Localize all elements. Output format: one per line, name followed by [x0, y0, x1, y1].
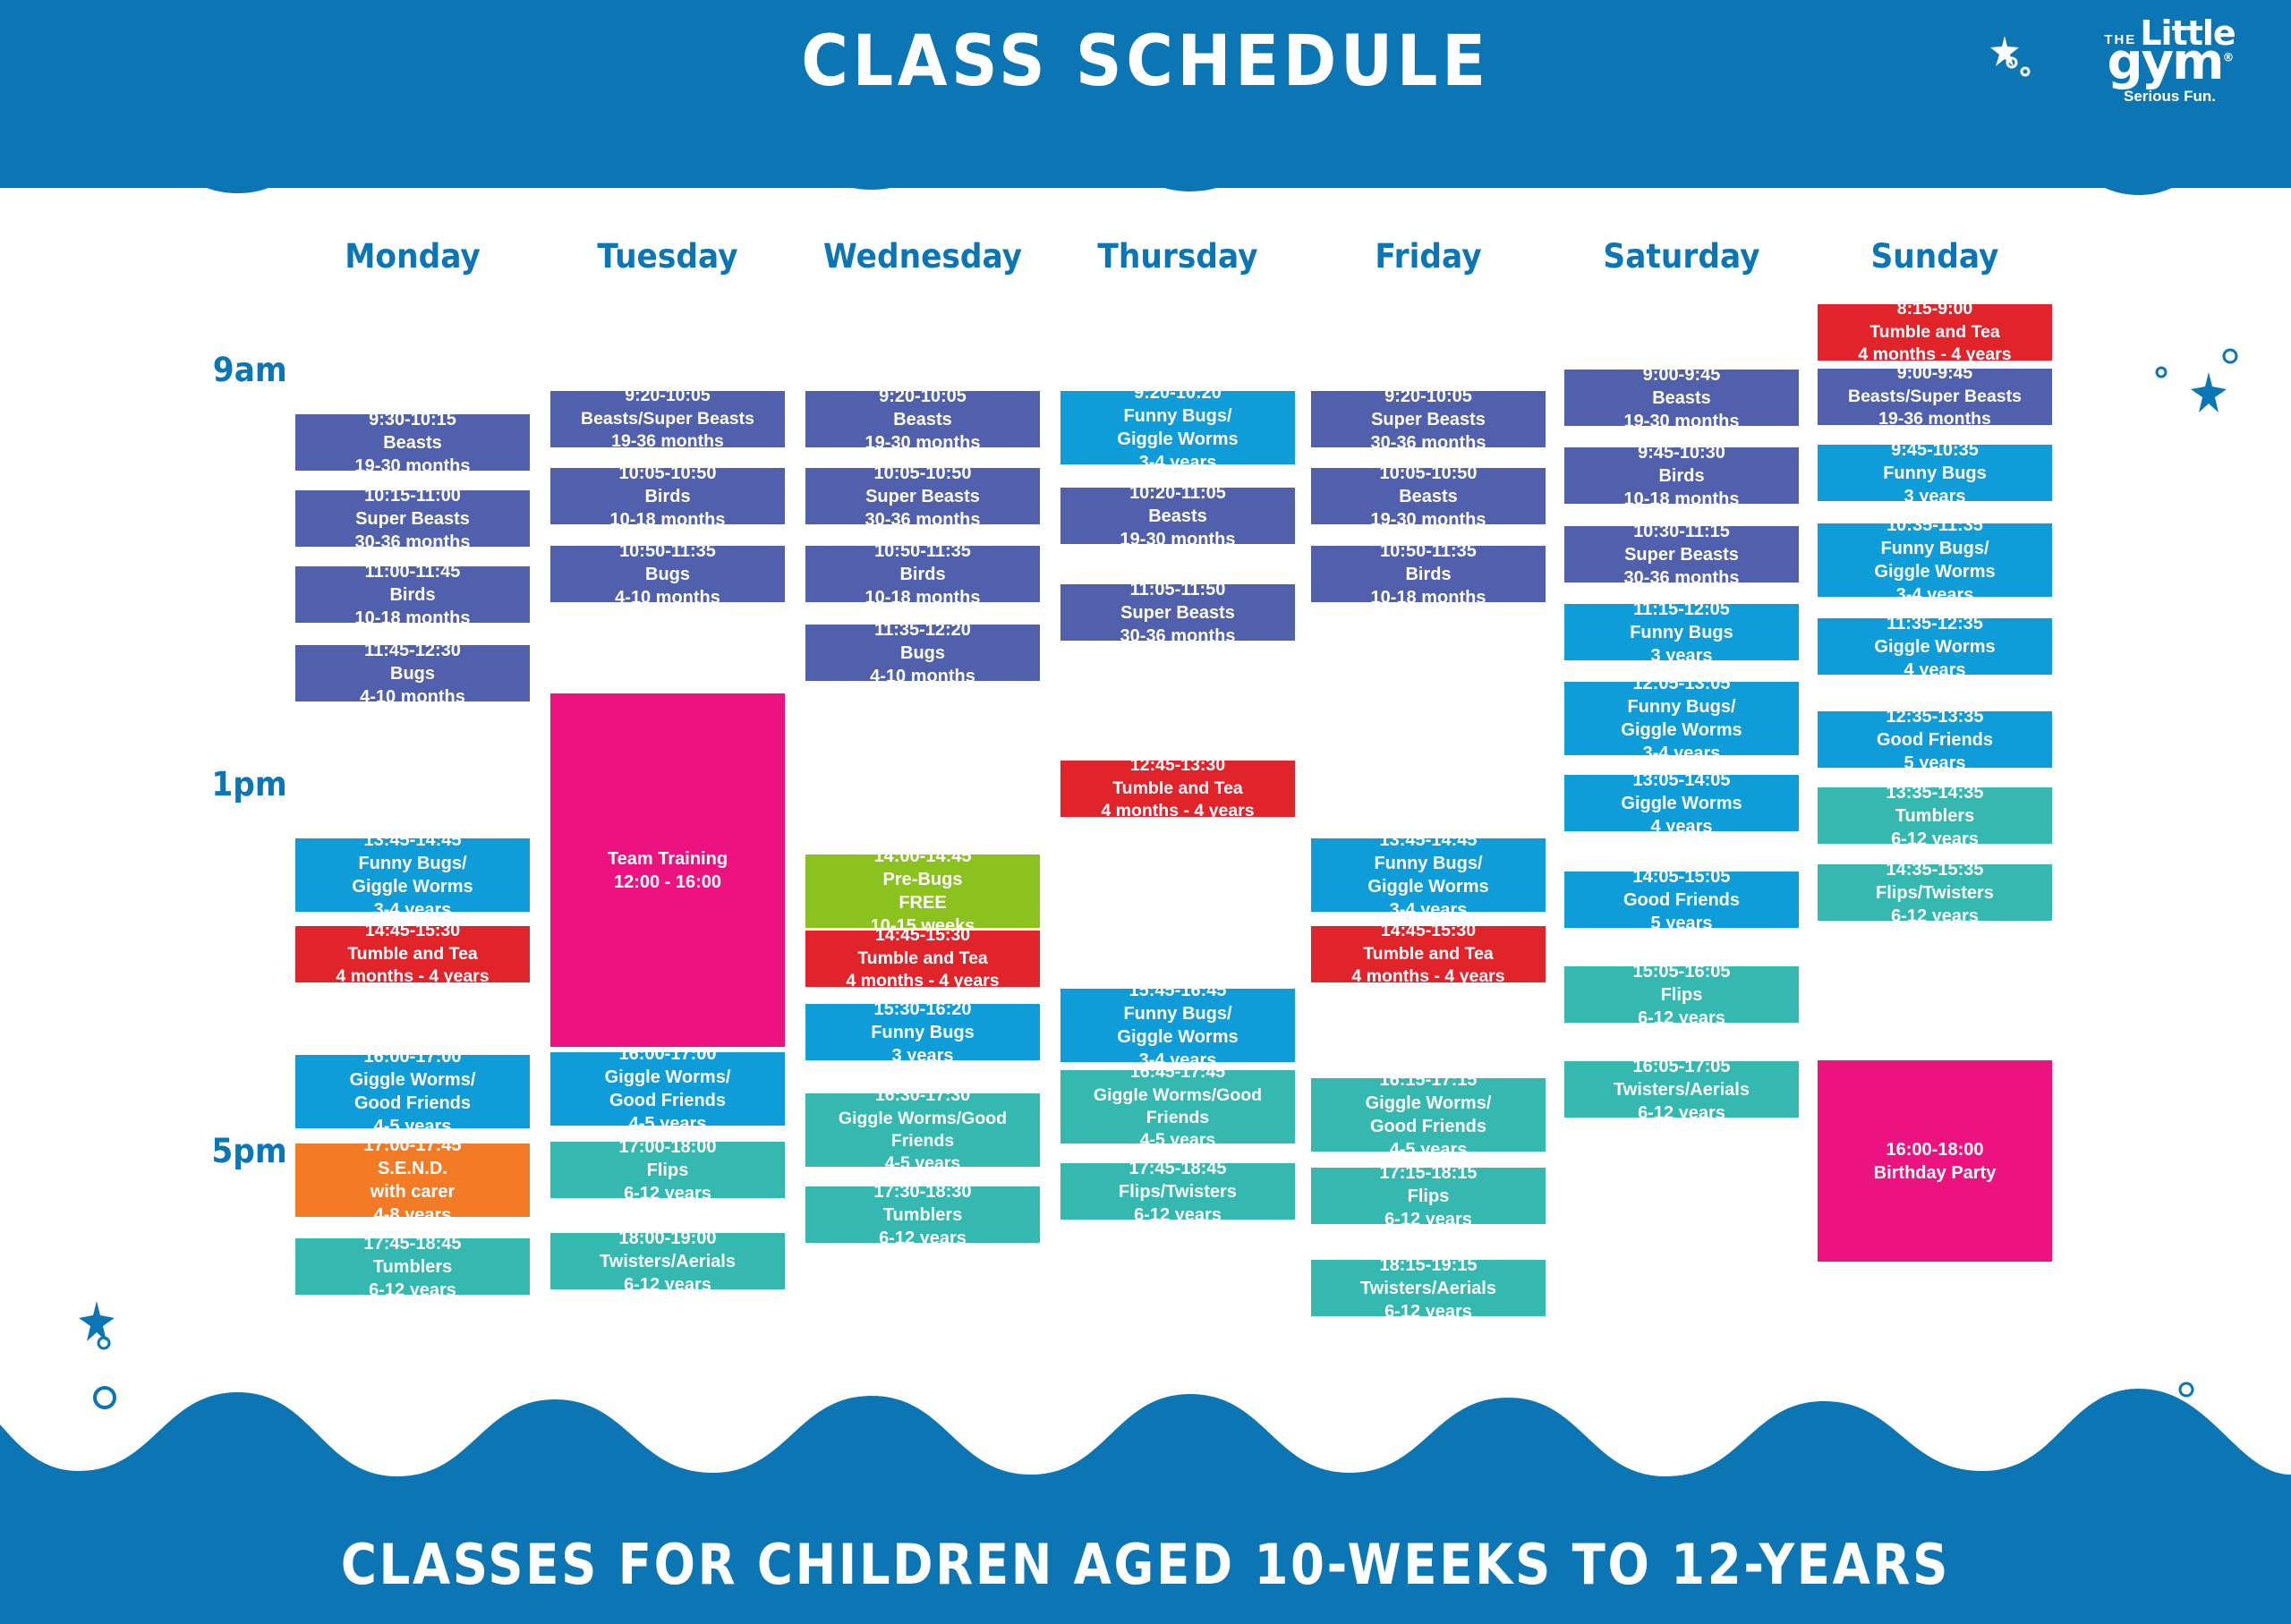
class-name: Giggle Worms — [1874, 635, 1995, 659]
class-name: Birds — [389, 583, 435, 607]
class-block[interactable]: 10:20-11:05Beasts19-30 months — [1060, 488, 1295, 544]
class-name: Beasts/Super Beasts — [581, 408, 754, 430]
class-time: 10:50-11:35 — [1380, 540, 1477, 563]
class-block[interactable]: 10:15-11:00Super Beasts30-36 months — [295, 490, 530, 547]
class-time: 16:05-17:05 — [1633, 1055, 1731, 1078]
class-block[interactable]: 14:00-14:45Pre-BugsFREE10-15 weeks — [805, 855, 1040, 928]
class-block[interactable]: 11:45-12:30Bugs4-10 months — [295, 645, 530, 701]
class-block[interactable]: 10:50-11:35Bugs4-10 months — [550, 546, 785, 602]
class-name: Flips — [647, 1159, 689, 1182]
class-block[interactable]: 14:45-15:30Tumble and Tea4 months - 4 ye… — [295, 926, 530, 982]
class-time: 10:05-10:50 — [1380, 462, 1478, 485]
class-block[interactable]: 10:50-11:35Birds10-18 months — [805, 546, 1040, 602]
class-time: 17:15-18:15 — [1380, 1161, 1478, 1185]
class-block[interactable]: 13:35-14:35Tumblers6-12 years — [1818, 787, 2052, 844]
class-age-range: 3-4 years — [1139, 451, 1217, 474]
class-name: Tumblers — [1895, 804, 1975, 828]
class-age-range: 3 years — [892, 1044, 954, 1067]
class-time: 17:45-18:45 — [364, 1232, 462, 1255]
class-time: 10:20-11:05 — [1129, 481, 1226, 505]
class-age-range: 4-10 months — [360, 685, 465, 709]
day-header-monday: Monday — [303, 237, 522, 276]
class-time: 14:05-15:05 — [1633, 865, 1731, 889]
class-age-range: 19-30 months — [1120, 528, 1236, 551]
class-name: Funny Bugs — [1630, 621, 1733, 644]
class-age-range: 4 years — [1651, 815, 1713, 838]
class-block[interactable]: 16:30-17:30Giggle Worms/GoodFriends4-5 y… — [805, 1093, 1040, 1167]
class-time: 11:45-12:30 — [364, 639, 461, 662]
class-age-range: 6-12 years — [1891, 905, 1979, 928]
class-age-range: 6-12 years — [1384, 1208, 1472, 1231]
class-name-line2: Giggle Worms — [1117, 1025, 1238, 1049]
class-block[interactable]: 16:05-17:05Twisters/Aerials6-12 years — [1564, 1061, 1799, 1118]
class-age-range: 4 months - 4 years — [1351, 965, 1504, 988]
class-name: Funny Bugs — [1883, 462, 1987, 485]
class-name: Birds — [644, 485, 690, 508]
day-header-tuesday: Tuesday — [558, 237, 777, 276]
class-block[interactable]: 12:45-13:30Tumble and Tea4 months - 4 ye… — [1060, 761, 1295, 817]
class-block[interactable]: 16:00-18:00Birthday Party — [1818, 1060, 2052, 1262]
class-block[interactable]: 12:35-13:35Good Friends5 years — [1818, 711, 2052, 768]
class-name: Beasts — [1399, 485, 1458, 508]
class-name: Bugs — [390, 662, 435, 685]
class-time: 15:30-16:20 — [874, 998, 972, 1021]
class-name-line2: Giggle Worms — [1367, 875, 1488, 898]
class-time: 18:15-19:15 — [1380, 1254, 1478, 1277]
class-name: Flips/Twisters — [1119, 1180, 1237, 1203]
class-age-range: 3-4 years — [1896, 583, 1974, 607]
class-time: 9:00-9:45 — [1897, 362, 1973, 385]
class-name: Flips — [1661, 983, 1703, 1007]
class-time: 16:45-17:45 — [1130, 1061, 1225, 1084]
class-name: Funny Bugs/ — [1374, 852, 1482, 875]
class-name: Giggle Worms/ — [350, 1068, 476, 1092]
class-age-range: 4-5 years — [629, 1112, 707, 1135]
class-block[interactable]: 10:30-11:15Super Beasts30-36 months — [1564, 526, 1799, 582]
class-name-line2: Giggle Worms — [352, 875, 473, 898]
class-name: Giggle Worms/ — [1366, 1092, 1492, 1115]
class-block[interactable]: 15:05-16:05Flips6-12 years — [1564, 966, 1799, 1023]
class-name: Tumble and Tea — [857, 948, 988, 970]
class-block[interactable]: 9:20-10:05Super Beasts30-36 months — [1311, 391, 1546, 447]
class-time: 13:35-14:35 — [1886, 781, 1984, 804]
class-time: 10:15-11:00 — [364, 484, 461, 507]
class-name-line2: Friends — [891, 1130, 954, 1152]
class-name: Bugs — [645, 563, 690, 586]
class-name: Beasts — [1652, 387, 1711, 410]
class-name: Beasts/Super Beasts — [1848, 386, 2022, 408]
class-age-range: 4-10 months — [615, 586, 720, 609]
class-age-range: 4 years — [1904, 659, 1966, 682]
class-age-range: 3 years — [1904, 485, 1966, 508]
class-age-range: 6-12 years — [369, 1279, 456, 1302]
class-time: 9:30-10:15 — [369, 408, 456, 431]
class-name: Super Beasts — [865, 485, 980, 508]
class-name: 12:00 - 16:00 — [614, 871, 721, 894]
class-block[interactable]: 16:00-17:00Giggle Worms/Good Friends4-5 … — [295, 1055, 530, 1128]
class-time: 13:45-14:45 — [364, 829, 462, 852]
class-time: 9:45-10:35 — [1891, 438, 1979, 462]
class-age-range: 30-36 months — [1120, 625, 1236, 648]
class-time: 13:45-14:45 — [1380, 829, 1478, 852]
class-block[interactable]: 10:05-10:50Super Beasts30-36 months — [805, 468, 1040, 524]
class-age-range: 10-18 months — [865, 586, 981, 609]
class-block[interactable]: 13:45-14:45Funny Bugs/Giggle Worms3-4 ye… — [295, 838, 530, 912]
class-name: Giggle Worms/Good — [1094, 1084, 1262, 1107]
class-time: 14:45-15:30 — [1381, 920, 1476, 942]
class-block[interactable]: 9:45-10:30Birds10-18 months — [1564, 447, 1799, 504]
class-name: Tumblers — [373, 1255, 453, 1279]
class-block[interactable]: Team Training12:00 - 16:00 — [550, 693, 785, 1047]
day-header-sunday: Sunday — [1826, 237, 2044, 276]
class-age-range: 6-12 years — [879, 1227, 967, 1250]
class-name: Twisters/Aerials — [1614, 1078, 1750, 1101]
class-block[interactable]: 14:45-15:30Tumble and Tea4 months - 4 ye… — [1311, 926, 1546, 982]
class-name: Birds — [1658, 464, 1704, 488]
class-name: Bugs — [900, 642, 945, 665]
class-time: 17:00-17:45 — [364, 1134, 462, 1157]
class-time: 11:05-11:50 — [1130, 578, 1226, 601]
class-name: Giggle Worms — [1621, 792, 1742, 815]
class-time: 14:00-14:45 — [874, 845, 972, 868]
class-block[interactable]: 13:45-14:45Funny Bugs/Giggle Worms3-4 ye… — [1311, 838, 1546, 912]
class-name: Birthday Party — [1874, 1161, 1997, 1185]
class-name: Tumble and Tea — [1869, 321, 2000, 344]
class-block[interactable]: 13:05-14:05Giggle Worms4 years — [1564, 775, 1799, 831]
class-age-range: 4-8 years — [374, 1203, 452, 1227]
class-age-range: 3-4 years — [1643, 742, 1721, 765]
class-age-range: 6-12 years — [1134, 1203, 1222, 1227]
class-time: 14:35-15:35 — [1886, 858, 1984, 881]
class-name: Funny Bugs/ — [1123, 1002, 1231, 1025]
class-age-range: 6-12 years — [1384, 1300, 1472, 1323]
class-name: Funny Bugs/ — [1123, 404, 1231, 428]
class-time: 16:00-17:00 — [619, 1042, 717, 1066]
day-header-saturday: Saturday — [1572, 237, 1791, 276]
class-block[interactable]: 11:00-11:45Birds10-18 months — [295, 566, 530, 623]
day-header-friday: Friday — [1319, 237, 1537, 276]
class-age-range: 19-30 months — [355, 455, 471, 478]
class-age-range: 4 months - 4 years — [336, 965, 489, 988]
class-name: Beasts — [1148, 505, 1207, 528]
schedule-grid: 9am1pm5pmMonday9:30-10:15Beasts19-30 mon… — [0, 0, 2291, 1624]
class-age-range: 19-36 months — [611, 430, 724, 453]
class-block[interactable]: 17:00-18:00Flips6-12 years — [550, 1142, 785, 1198]
class-block[interactable]: 14:45-15:30Tumble and Tea4 months - 4 ye… — [805, 931, 1040, 987]
class-time: 12:45-13:30 — [1130, 754, 1225, 777]
class-time: 12:05-13:05 — [1633, 672, 1731, 695]
class-name: Super Beasts — [1120, 601, 1235, 625]
class-time: 16:15-17:15 — [1380, 1068, 1478, 1092]
class-age-range: 3 years — [1651, 644, 1713, 667]
class-time: 17:30-18:30 — [874, 1180, 972, 1203]
class-block[interactable]: 11:05-11:50Super Beasts30-36 months — [1060, 584, 1295, 641]
class-age-range: 19-30 months — [865, 431, 981, 455]
class-time: Team Training — [608, 847, 728, 871]
class-time: 9:00-9:45 — [1643, 363, 1721, 387]
class-age-range: 19-36 months — [1878, 408, 1991, 430]
class-block[interactable]: 17:15-18:15Flips6-12 years — [1311, 1168, 1546, 1224]
class-age-range: 10-18 months — [1624, 488, 1740, 511]
class-age-range: 6-12 years — [1891, 828, 1979, 851]
little-gym-logo: THE Little gym® Serious Fun. — [2074, 20, 2266, 106]
class-block[interactable]: 9:45-10:35Funny Bugs3 years — [1818, 445, 2052, 501]
class-time: 14:45-15:30 — [365, 920, 460, 942]
class-age-range: 10-18 months — [1371, 586, 1486, 609]
class-time: 11:15-12:05 — [1633, 598, 1730, 621]
logo-tagline: Serious Fun. — [2074, 88, 2266, 106]
page-title: CLASS SCHEDULE — [91, 21, 2199, 102]
class-name: Twisters/Aerials — [1360, 1277, 1496, 1300]
class-age-range: 30-36 months — [865, 508, 981, 531]
class-time: 9:20-10:05 — [1384, 385, 1472, 408]
class-age-range: 19-30 months — [1371, 508, 1486, 531]
class-age-range: 6-12 years — [1638, 1007, 1725, 1030]
class-time: 9:20-10:05 — [625, 385, 710, 407]
day-header-thursday: Thursday — [1069, 237, 1287, 276]
class-block[interactable]: 8:15-9:00Tumble and Tea4 months - 4 year… — [1818, 304, 2052, 361]
class-block[interactable]: 11:35-12:20Bugs4-10 months — [805, 625, 1040, 681]
class-name-line2: Friends — [1146, 1107, 1209, 1129]
day-header-wednesday: Wednesday — [813, 237, 1032, 276]
class-name: Giggle Worms/ — [605, 1066, 731, 1089]
class-name: Super Beasts — [1624, 543, 1739, 566]
class-name: S.E.N.D. — [378, 1157, 447, 1180]
class-age-range: 30-36 months — [1624, 566, 1740, 590]
class-age-range: 19-30 months — [1624, 410, 1740, 433]
class-name: Funny Bugs/ — [1880, 537, 1989, 560]
class-block[interactable]: 9:00-9:45Beasts19-30 months — [1564, 370, 1799, 426]
class-age-range: 4-5 years — [1140, 1129, 1216, 1152]
class-age-range: 6-12 years — [1638, 1101, 1725, 1125]
class-name-line2: Good Friends — [609, 1089, 726, 1112]
class-block[interactable]: 17:45-18:45Tumblers6-12 years — [295, 1238, 530, 1295]
class-name: Flips/Twisters — [1876, 881, 1994, 905]
class-block[interactable]: 15:45-16:45Funny Bugs/Giggle Worms3-4 ye… — [1060, 989, 1295, 1062]
class-time: 16:30-17:30 — [875, 1084, 970, 1107]
class-name: Twisters/Aerials — [600, 1250, 736, 1273]
class-age-range: 4-5 years — [1390, 1138, 1468, 1161]
class-age-range: 4 months - 4 years — [1101, 800, 1254, 822]
class-age-range: 30-36 months — [1371, 431, 1486, 455]
class-block[interactable]: 12:05-13:05Funny Bugs/Giggle Worms3-4 ye… — [1564, 682, 1799, 755]
class-name: Tumblers — [883, 1203, 963, 1227]
footer-tagline: CLASSES FOR CHILDREN AGED 10-WEEKS TO 12… — [138, 1532, 2154, 1597]
class-name: Giggle Worms/Good — [839, 1108, 1007, 1130]
time-label-5pm: 5pm — [187, 1132, 287, 1170]
class-age-range: 3-4 years — [1390, 898, 1468, 922]
class-age-range: 10-18 months — [355, 607, 471, 630]
class-time: 10:30-11:15 — [1633, 520, 1730, 543]
class-age-range: 5 years — [1651, 912, 1713, 935]
class-block[interactable]: 10:50-11:35Birds10-18 months — [1311, 546, 1546, 602]
class-block[interactable]: 11:35-12:35Giggle Worms4 years — [1818, 618, 2052, 675]
class-block[interactable]: 14:35-15:35Flips/Twisters6-12 years — [1818, 864, 2052, 921]
class-age-range: 4 months - 4 years — [846, 970, 999, 992]
class-time: 10:05-10:50 — [874, 462, 972, 485]
class-name: Beasts — [383, 431, 442, 455]
class-time: 11:35-12:20 — [874, 618, 971, 642]
class-name-line2: with carer — [370, 1180, 455, 1203]
class-name: Funny Bugs/ — [358, 852, 466, 875]
class-age-range: 5 years — [1904, 752, 1966, 775]
time-label-9am: 9am — [187, 351, 287, 389]
class-name-line2: Giggle Worms — [1874, 560, 1995, 583]
class-block[interactable]: 10:05-10:50Birds10-18 months — [550, 468, 785, 524]
class-name: Beasts — [893, 408, 952, 431]
class-block[interactable]: 9:30-10:15Beasts19-30 months — [295, 414, 530, 471]
class-block[interactable]: 10:35-11:35Funny Bugs/Giggle Worms3-4 ye… — [1818, 523, 2052, 597]
class-block[interactable]: 10:05-10:50Beasts19-30 months — [1311, 468, 1546, 524]
class-time: 10:50-11:35 — [619, 540, 716, 563]
class-block[interactable]: 18:00-19:00Twisters/Aerials6-12 years — [550, 1233, 785, 1289]
class-block[interactable]: 15:30-16:20Funny Bugs3 years — [805, 1004, 1040, 1060]
class-time: 10:35-11:35 — [1886, 514, 1983, 537]
class-name: Tumble and Tea — [1363, 943, 1494, 965]
class-block[interactable]: 16:45-17:45Giggle Worms/GoodFriends4-5 y… — [1060, 1070, 1295, 1144]
class-time: 16:00-17:00 — [364, 1045, 462, 1068]
class-name: Good Friends — [1877, 728, 1993, 752]
class-name: Good Friends — [1623, 889, 1740, 912]
class-time: 9:20-10:20 — [1134, 381, 1222, 404]
class-name-line2: FREE — [899, 891, 946, 914]
class-block[interactable]: 16:15-17:15Giggle Worms/Good Friends4-5 … — [1311, 1078, 1546, 1152]
class-name: Flips — [1408, 1185, 1450, 1208]
logo-gym-text: gym® — [2074, 41, 2266, 84]
class-time: 11:35-12:35 — [1886, 612, 1983, 635]
class-time: 10:50-11:35 — [874, 540, 971, 563]
class-age-range: 4-10 months — [870, 665, 975, 688]
class-block[interactable]: 11:15-12:05Funny Bugs3 years — [1564, 604, 1799, 660]
class-name-line2: Giggle Worms — [1117, 428, 1238, 451]
class-name: Birds — [1405, 563, 1451, 586]
class-block[interactable]: 9:20-10:05Beasts19-30 months — [805, 391, 1040, 447]
class-block[interactable]: 18:15-19:15Twisters/Aerials6-12 years — [1311, 1260, 1546, 1316]
class-age-range: 30-36 months — [355, 531, 471, 554]
class-time: 9:20-10:05 — [879, 385, 967, 408]
class-name-line2: Good Friends — [1370, 1115, 1486, 1138]
class-block[interactable]: 9:20-10:20Funny Bugs/Giggle Worms3-4 yea… — [1060, 391, 1295, 464]
class-time: 16:00-18:00 — [1886, 1138, 1984, 1161]
class-age-range: 3-4 years — [374, 898, 452, 922]
class-age-range: 10-18 months — [610, 508, 726, 531]
class-time: 17:00-18:00 — [619, 1135, 717, 1159]
class-time: 8:15-9:00 — [1897, 298, 1973, 320]
class-name: Tumble and Tea — [347, 943, 478, 965]
class-time: 15:45-16:45 — [1129, 979, 1227, 1002]
class-block[interactable]: 9:00-9:45Beasts/Super Beasts19-36 months — [1818, 369, 2052, 425]
class-time: 10:05-10:50 — [619, 462, 717, 485]
class-name: Super Beasts — [1371, 408, 1486, 431]
class-name: Super Beasts — [355, 507, 470, 531]
class-time: 12:35-13:35 — [1886, 705, 1984, 728]
class-time: 13:05-14:05 — [1633, 769, 1731, 792]
class-time: 11:00-11:45 — [365, 560, 461, 583]
class-age-range: 4-5 years — [885, 1152, 961, 1175]
class-time: 9:45-10:30 — [1638, 441, 1725, 464]
class-block[interactable]: 17:45-18:45Flips/Twisters6-12 years — [1060, 1163, 1295, 1220]
class-time: 18:00-19:00 — [619, 1227, 717, 1250]
class-block[interactable]: 17:30-18:30Tumblers6-12 years — [805, 1186, 1040, 1243]
class-block[interactable]: 9:20-10:05Beasts/Super Beasts19-36 month… — [550, 391, 785, 447]
class-time: 14:45-15:30 — [875, 924, 970, 947]
class-age-range: 6-12 years — [624, 1182, 711, 1205]
class-block[interactable]: 17:00-17:45S.E.N.D.with carer4-8 years — [295, 1144, 530, 1217]
class-name-line2: Good Friends — [354, 1092, 471, 1115]
class-name: Tumble and Tea — [1112, 778, 1243, 800]
class-time: 15:05-16:05 — [1633, 960, 1731, 983]
class-age-range: 6-12 years — [624, 1273, 711, 1297]
class-block[interactable]: 14:05-15:05Good Friends5 years — [1564, 872, 1799, 928]
class-block[interactable]: 16:00-17:00Giggle Worms/Good Friends4-5 … — [550, 1052, 785, 1126]
class-name: Birds — [899, 563, 945, 586]
class-name-line2: Giggle Worms — [1621, 718, 1742, 742]
class-name: Funny Bugs/ — [1627, 695, 1735, 718]
time-label-1pm: 1pm — [187, 765, 287, 803]
class-name: Funny Bugs — [871, 1021, 975, 1044]
class-time: 17:45-18:45 — [1129, 1157, 1227, 1180]
class-name: Pre-Bugs — [883, 868, 963, 891]
